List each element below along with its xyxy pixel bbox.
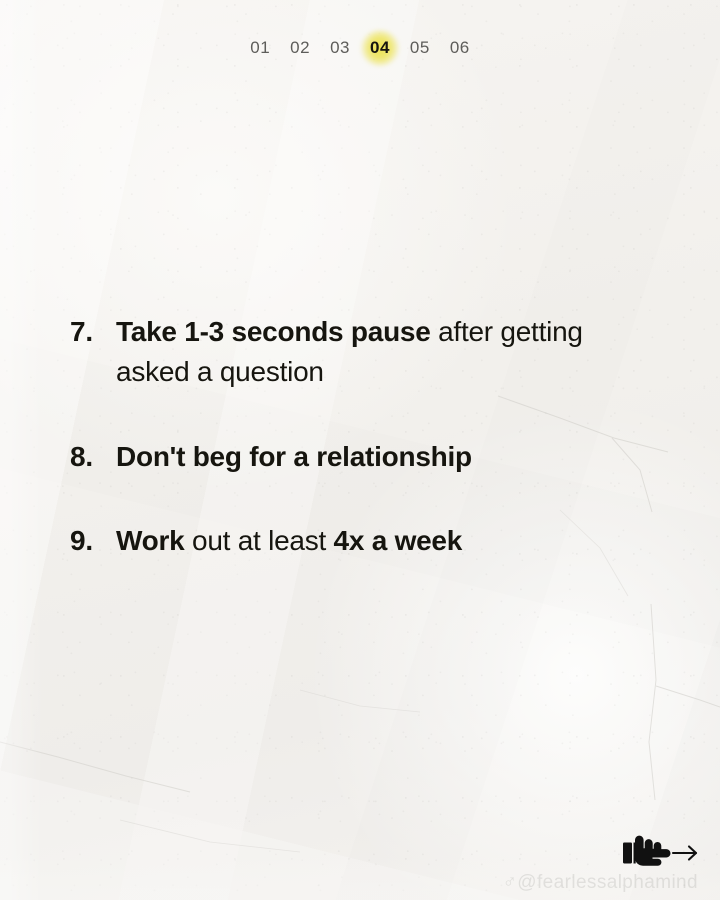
list-item-text: Work out at least 4x a week (116, 521, 650, 561)
list-item-text-segment: 4x a week (334, 525, 463, 556)
tips-list: 7.Take 1-3 seconds pause after getting a… (70, 312, 650, 561)
pagination-item-06[interactable]: 06 (450, 38, 470, 58)
pagination-item-label: 01 (250, 38, 270, 57)
slide-pagination[interactable]: 010203040506 (0, 38, 720, 58)
list-item-text: Don't beg for a relationship (116, 437, 650, 477)
pagination-item-label: 06 (450, 38, 470, 57)
list-item-text-segment: Work (116, 525, 185, 556)
pagination-item-label: 05 (410, 38, 430, 57)
list-item-text-segment: Take 1-3 seconds pause (116, 316, 431, 347)
watermark-handle: ♂@fearlessalphamind (503, 872, 698, 894)
pointing-hand-right-icon (622, 834, 672, 872)
pagination-item-label: 04 (370, 38, 390, 57)
list-item-number: 9. (70, 521, 116, 561)
list-item-number: 8. (70, 437, 116, 477)
list-item: 7.Take 1-3 seconds pause after getting a… (70, 312, 650, 393)
swipe-next-cta[interactable] (622, 834, 702, 872)
arrow-right-icon (670, 842, 702, 864)
pagination-item-03[interactable]: 03 (330, 38, 350, 58)
list-item-text-segment: out at least (185, 525, 334, 556)
list-item: 8.Don't beg for a relationship (70, 437, 650, 477)
list-item-text-segment: Don't beg for a relationship (116, 441, 472, 472)
pagination-item-01[interactable]: 01 (250, 38, 270, 58)
pagination-item-label: 03 (330, 38, 350, 57)
list-item-text: Take 1-3 seconds pause after getting ask… (116, 312, 650, 393)
pagination-item-04[interactable]: 04 (370, 38, 390, 58)
pagination-item-05[interactable]: 05 (410, 38, 430, 58)
pagination-item-label: 02 (290, 38, 310, 57)
list-item: 9.Work out at least 4x a week (70, 521, 650, 561)
list-item-number: 7. (70, 312, 116, 352)
pagination-item-02[interactable]: 02 (290, 38, 310, 58)
